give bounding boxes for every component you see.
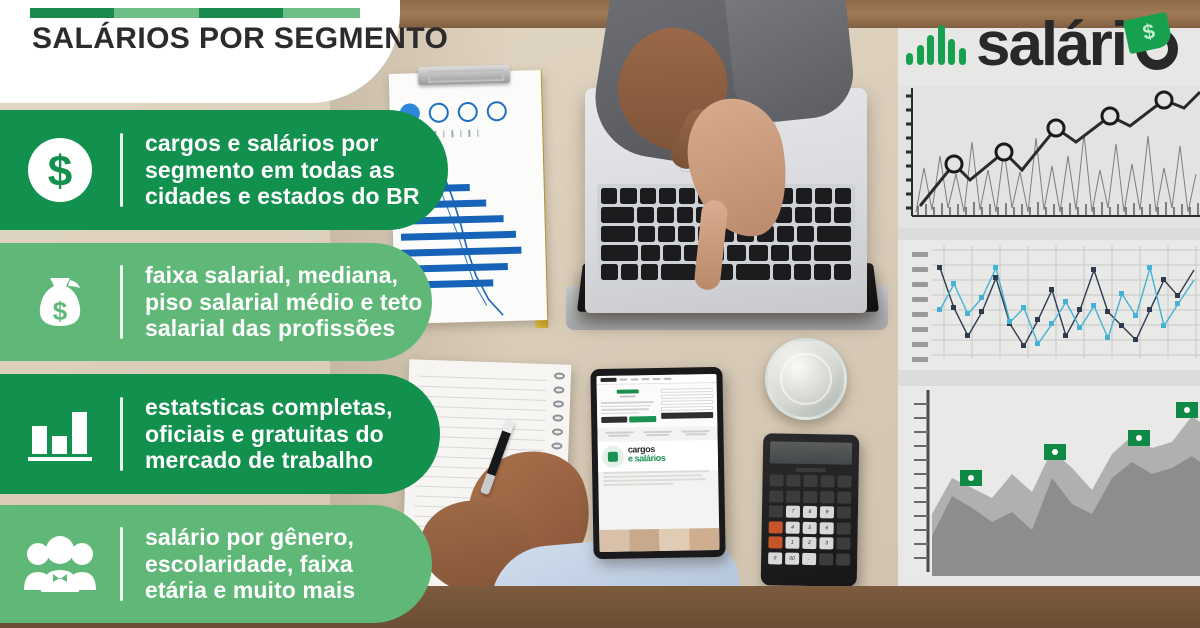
brand-word-text: salári <box>976 20 1126 70</box>
tablet-device: cargos e salários <box>590 367 725 559</box>
tablet-photo-strip <box>599 528 719 552</box>
divider <box>120 527 123 601</box>
middle-dual-series-chart <box>904 240 1200 370</box>
glass-of-water <box>765 338 847 420</box>
tablet-hero <box>597 383 718 428</box>
brand-logo[interactable]: salári $ <box>906 18 1182 72</box>
calculator: 789 456 123 000. <box>761 433 860 587</box>
clipboard-icon-3 <box>458 102 479 123</box>
page-title: SALÁRIOS POR SEGMENTO <box>32 22 448 56</box>
divider <box>120 265 123 339</box>
bottom-area-chart <box>904 386 1200 576</box>
clipboard-icon-2 <box>429 102 450 123</box>
clipboard-icon-4 <box>487 101 508 122</box>
bar-chart-icon <box>0 402 120 466</box>
brand-wordmark: salári $ <box>976 18 1182 72</box>
coin-o-icon: $ <box>1128 18 1182 72</box>
feature-text-4: salário por gênero, escolaridade, faixa … <box>145 524 355 604</box>
top-trend-chart <box>898 86 1200 228</box>
clipboard-clip <box>418 65 510 85</box>
people-group-icon <box>0 534 120 594</box>
feature-row-4[interactable]: salário por gênero, escolaridade, faixa … <box>0 505 432 623</box>
title-card: SALÁRIOS POR SEGMENTO <box>0 0 400 103</box>
feature-text-1: cargos e salários por segmento em todas … <box>145 130 420 210</box>
charts-panel <box>898 28 1200 590</box>
tablet-article-block: cargos e salários <box>598 440 719 472</box>
calculator-brand <box>796 468 826 473</box>
feature-row-3[interactable]: estatsticas completas, oficiais e gratui… <box>0 374 440 494</box>
tablet-headline-2: e salários <box>628 453 714 463</box>
divider <box>120 133 123 207</box>
tablet-body-text <box>598 470 718 486</box>
tablet-screen: cargos e salários <box>596 374 719 552</box>
svg-text:$: $ <box>48 147 72 196</box>
feature-row-1[interactable]: $ cargos e salários por segmento em toda… <box>0 110 448 230</box>
calculator-display <box>770 441 852 464</box>
calculator-keypad: 789 456 123 000. <box>768 474 852 565</box>
feature-text-2: faixa salarial, mediana, piso salarial m… <box>145 262 422 342</box>
title-stripe-bar <box>30 8 360 18</box>
equalizer-bars-icon <box>906 25 966 65</box>
divider <box>120 397 123 471</box>
dollar-circle-icon: $ <box>0 136 120 204</box>
money-bag-icon: $ <box>0 268 120 336</box>
svg-text:$: $ <box>53 296 68 326</box>
feature-row-2[interactable]: $ faixa salarial, mediana, piso salarial… <box>0 243 432 361</box>
feature-text-3: estatsticas completas, oficiais e gratui… <box>145 394 393 474</box>
